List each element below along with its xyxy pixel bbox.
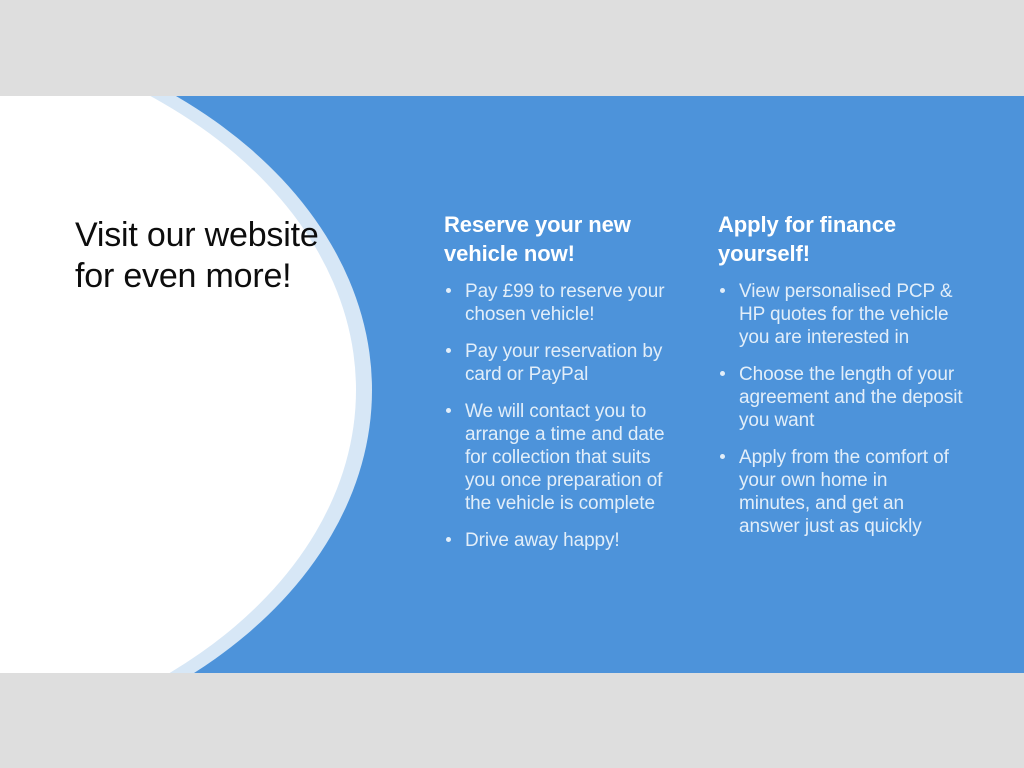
bullet-list-reserve: Pay £99 to reserve your chosen vehicle! … xyxy=(444,280,684,552)
list-item: Drive away happy! xyxy=(444,529,684,552)
letterbox-bar-bottom xyxy=(0,673,1024,768)
slide-stage: Visit our website for even more! Reserve… xyxy=(0,0,1024,768)
slide-canvas: Visit our website for even more! Reserve… xyxy=(0,96,1024,673)
white-circle-panel xyxy=(0,96,356,673)
list-item-label: Choose the length of your agreement and … xyxy=(739,364,963,431)
bullet-column-finance: Apply for finance yourself! View persona… xyxy=(718,210,963,538)
bullet-dot-icon xyxy=(720,288,725,293)
list-item: Pay your reservation by card or PayPal xyxy=(444,340,684,386)
list-item-label: Apply from the comfort of your own home … xyxy=(739,447,949,537)
list-item: Pay £99 to reserve your chosen vehicle! xyxy=(444,280,684,326)
list-item: View personalised PCP & HP quotes for th… xyxy=(718,280,963,349)
bullet-column-reserve: Reserve your new vehicle now! Pay £99 to… xyxy=(444,210,684,552)
bullet-dot-icon xyxy=(720,371,725,376)
letterbox-bar-top xyxy=(0,0,1024,96)
list-item-label: View personalised PCP & HP quotes for th… xyxy=(739,281,953,348)
bullet-dot-icon xyxy=(446,537,451,542)
list-item: Apply from the comfort of your own home … xyxy=(718,446,963,538)
list-item: Choose the length of your agreement and … xyxy=(718,363,963,432)
bullet-dot-icon xyxy=(446,348,451,353)
bullet-dot-icon xyxy=(720,454,725,459)
column-heading-finance: Apply for finance yourself! xyxy=(718,210,963,268)
list-item: We will contact you to arrange a time an… xyxy=(444,400,684,515)
bullet-dot-icon xyxy=(446,408,451,413)
list-item-label: Pay £99 to reserve your chosen vehicle! xyxy=(465,281,664,325)
page-title: Visit our website for even more! xyxy=(75,215,325,297)
column-heading-reserve: Reserve your new vehicle now! xyxy=(444,210,684,268)
bullet-dot-icon xyxy=(446,288,451,293)
list-item-label: We will contact you to arrange a time an… xyxy=(465,401,664,514)
bullet-list-finance: View personalised PCP & HP quotes for th… xyxy=(718,280,963,538)
list-item-label: Pay your reservation by card or PayPal xyxy=(465,341,662,385)
list-item-label: Drive away happy! xyxy=(465,530,620,551)
